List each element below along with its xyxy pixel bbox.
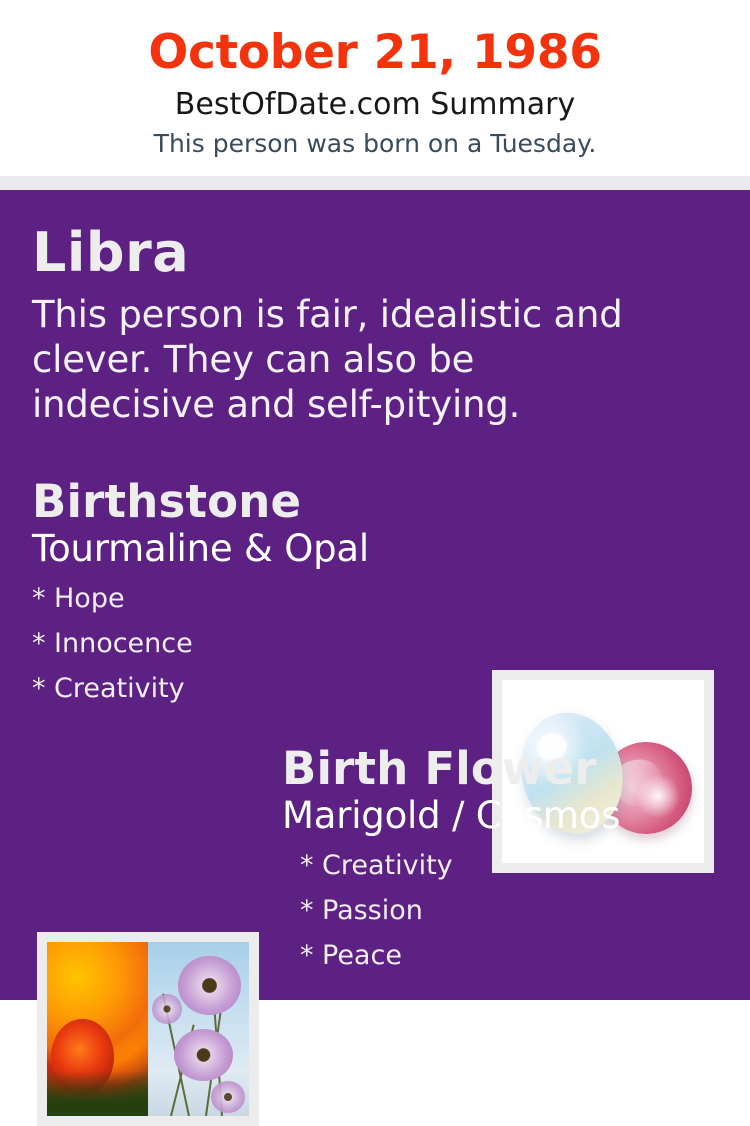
- list-item: *Creativity: [282, 843, 722, 888]
- birth-flower-trait-label: Passion: [322, 895, 423, 926]
- birth-flower-section: Birth Flower Marigold / Cosmos *Creativi…: [282, 742, 722, 978]
- page-title-date: October 21, 1986: [0, 24, 750, 82]
- cosmos-flower-icon: [152, 994, 182, 1024]
- birth-flower-trait-list: *Creativity *Passion *Peace: [282, 843, 722, 978]
- list-item: *Passion: [282, 888, 722, 933]
- list-item: *Innocence: [32, 621, 462, 666]
- cosmos-flower-icon: [211, 1081, 245, 1112]
- list-item: *Peace: [282, 933, 722, 978]
- bullet-star-icon: *: [300, 843, 322, 888]
- zodiac-section: Libra This person is fair, idealistic an…: [32, 222, 642, 427]
- zodiac-description: This person is fair, idealistic and clev…: [32, 292, 642, 427]
- details-panel: Libra This person is fair, idealistic an…: [0, 190, 750, 1000]
- list-item: *Creativity: [32, 666, 462, 711]
- birth-flower-photo-frame: [37, 932, 259, 1126]
- birth-flower-trait-label: Peace: [322, 940, 402, 971]
- birthstone-trait-list: *Hope *Innocence *Creativity: [32, 576, 462, 711]
- header-divider: [0, 176, 750, 190]
- birthstone-section: Birthstone Tourmaline & Opal *Hope *Inno…: [32, 475, 462, 711]
- birthstone-names: Tourmaline & Opal: [32, 527, 462, 570]
- site-name-subtitle: BestOfDate.com Summary: [0, 84, 750, 126]
- list-item: *Hope: [32, 576, 462, 621]
- bullet-star-icon: *: [300, 888, 322, 933]
- marigold-photo-half: [47, 942, 148, 1116]
- birth-flower-names: Marigold / Cosmos: [282, 794, 722, 837]
- bullet-star-icon: *: [32, 576, 54, 621]
- birth-flower-heading: Birth Flower: [282, 742, 722, 796]
- birth-flower-trait-label: Creativity: [322, 850, 453, 881]
- weekday-caption: This person was born on a Tuesday.: [0, 127, 750, 161]
- cosmos-flower-icon: [174, 1029, 233, 1081]
- birthstone-trait-label: Hope: [54, 583, 125, 614]
- header: October 21, 1986 BestOfDate.com Summary …: [0, 0, 750, 176]
- zodiac-sign-name: Libra: [32, 222, 642, 284]
- birthstone-trait-label: Innocence: [54, 628, 193, 659]
- summary-card: October 21, 1986 BestOfDate.com Summary …: [0, 0, 750, 1000]
- cosmos-photo-half: [148, 942, 249, 1116]
- bullet-star-icon: *: [32, 621, 54, 666]
- birthstone-heading: Birthstone: [32, 475, 462, 529]
- birthstone-trait-label: Creativity: [54, 673, 185, 704]
- bullet-star-icon: *: [300, 933, 322, 978]
- bullet-star-icon: *: [32, 666, 54, 711]
- birth-flower-photo: [47, 942, 249, 1116]
- cosmos-flower-icon: [178, 956, 241, 1015]
